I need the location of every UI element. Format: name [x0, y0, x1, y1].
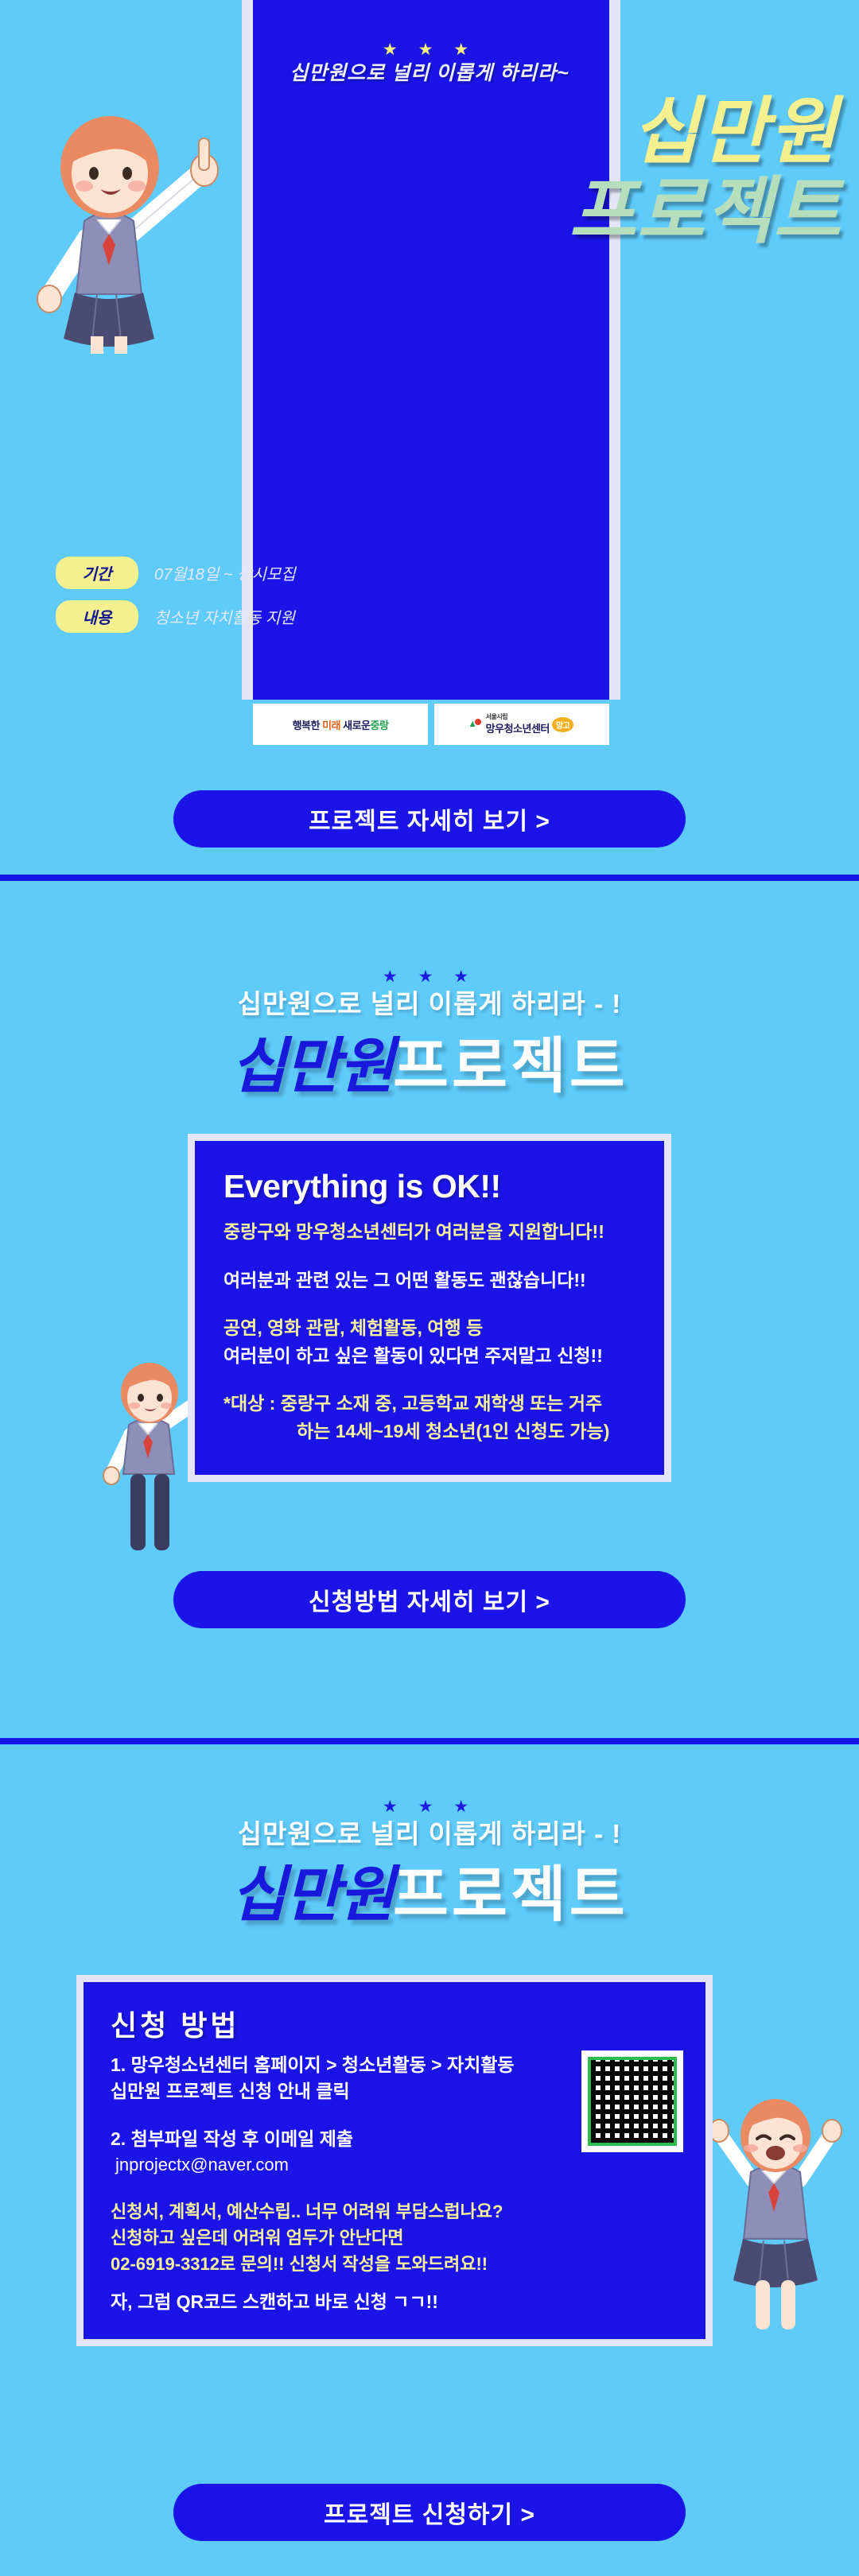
about-title: 십만원프로젝트 [0, 1037, 859, 1097]
cta-project-detail[interactable]: 프로젝트 자세히 보기 > [173, 790, 686, 848]
apply-note-line2: 신청하고 싶은데 어려워 엄두가 안난다면 [111, 2225, 678, 2251]
about-line-examples: 공연, 영화 관람, 체험활동, 여행 등 [223, 1314, 636, 1342]
panel-about: ★ ★ ★ 십만원으로 널리 이롭게 하리라 - ! 십만원프로젝트 [0, 881, 859, 1738]
poster-page: ★ ★ ★ 십만원으로 널리 이롭게 하리라~ 십만원 프로젝트 기간 07월1… [0, 0, 859, 2576]
apply-content-box: 신청 방법 1. 망우청소년센터 홈페이지 > 청소년활동 > 자치활동 십만원… [76, 1975, 713, 2346]
hero-info-list: 기간 07월18일 ~ 상시모집 내용 청소년 자치활동 지원 [56, 557, 358, 644]
apply-title-white: 프로젝트 [393, 1861, 628, 1929]
spacer-1 [223, 1246, 636, 1267]
info-label-content: 내용 [56, 600, 138, 633]
about-title-white: 프로젝트 [393, 1033, 628, 1100]
spacer-2 [223, 1294, 636, 1314]
logo-mangwoo-center: 서울시립망우청소년센터 망고 [434, 704, 609, 745]
hero-title-line1: 십만원 [632, 94, 838, 171]
logo-jungnang-text: 행복한 미래 새로운중랑 [293, 717, 389, 732]
about-content-box: Everything is OK!! 중랑구와 망우청소년센터가 여러분을 지원… [188, 1134, 671, 1482]
about-line-any: 여러분과 관련 있는 그 어떤 활동도 괜찮습니다!! [223, 1267, 636, 1294]
apply-note-line1: 신청서, 계획서, 예산수립.. 너무 어려워 부담스럽나요? [111, 2198, 678, 2225]
apply-note-line3: 02-6919-3312로 문의!! 신청서 작성을 도와드려요!! [111, 2251, 678, 2277]
hero-title-line2: 프로젝트 [569, 173, 842, 250]
about-box-heading: Everything is OK!! [223, 1168, 636, 1205]
info-value-content: 청소년 자치활동 지원 [154, 605, 295, 628]
apply-title-blue: 십만원 [231, 1861, 393, 1929]
info-label-period: 기간 [56, 557, 138, 589]
panel-hero: ★ ★ ★ 십만원으로 널리 이롭게 하리라~ 십만원 프로젝트 기간 07월1… [0, 0, 859, 875]
info-row-period: 기간 07월18일 ~ 상시모집 [56, 557, 358, 589]
qr-code[interactable] [581, 2050, 683, 2152]
mangwoo-mark-icon [470, 718, 483, 731]
about-line-apply: 여러분이 하고 싶은 활동이 있다면 주저말고 신청!! [223, 1342, 636, 1370]
hero-stars: ★ ★ ★ [0, 41, 859, 58]
cta-howto-detail[interactable]: 신청방법 자세히 보기 > [173, 1571, 686, 1628]
apply-title: 십만원프로젝트 [0, 1865, 859, 1926]
about-line-support: 중랑구와 망우청소년센터가 여러분을 지원합니다!! [223, 1218, 636, 1246]
logo-bar: 행복한 미래 새로운중랑 서울시립망우청소년센터 망고 [253, 704, 609, 745]
qr-code-image [588, 2057, 677, 2146]
panel-apply: ★ ★ ★ 십만원으로 널리 이롭게 하리라 - ! 십만원프로젝트 [0, 1744, 859, 2576]
apply-step2-email[interactable]: jnprojectx@naver.com [111, 2152, 678, 2178]
apply-outro: 자, 그럼 QR코드 스캔하고 바로 신청 ㄱㄱ!! [111, 2288, 678, 2316]
cta-project-apply[interactable]: 프로젝트 신청하기 > [173, 2484, 686, 2541]
apply-tagline: 십만원으로 널리 이롭게 하리라 - ! [0, 1813, 859, 1851]
about-line-target-1: *대상 : 중랑구 소재 중, 고등학교 재학생 또는 거주 [223, 1390, 636, 1418]
apply-box-heading: 신청 방법 [111, 2003, 678, 2044]
divider-2 [0, 1738, 859, 1744]
character-cheering-girl [708, 2086, 843, 2341]
mango-badge: 망고 [552, 717, 573, 732]
spacer-5 [111, 2178, 678, 2198]
about-tagline: 십만원으로 널리 이롭게 하리라 - ! [0, 983, 859, 1021]
divider-1 [0, 875, 859, 881]
hero-tagline: 십만원으로 널리 이롭게 하리라~ [0, 57, 859, 86]
about-title-blue: 십만원 [231, 1033, 393, 1100]
spacer-3 [223, 1369, 636, 1390]
info-row-content: 내용 청소년 자치활동 지원 [56, 600, 358, 633]
info-value-period: 07월18일 ~ 상시모집 [154, 561, 296, 584]
about-line-target-2: 하는 14세~19세 청소년(1인 신청도 가능) [223, 1418, 636, 1445]
logo-jungnang: 행복한 미래 새로운중랑 [253, 704, 428, 745]
character-pointing-girl [11, 94, 250, 356]
logo-mangwoo-text: 서울시립망우청소년센터 [486, 714, 550, 735]
